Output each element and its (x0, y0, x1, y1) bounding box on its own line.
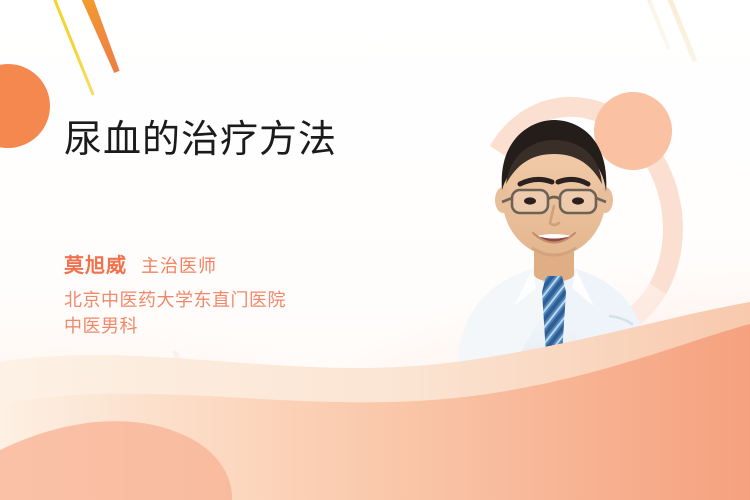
doctor-rank: 主治医师 (141, 252, 217, 278)
cover-card: 尿血的治疗方法 莫旭威 主治医师 北京中医药大学东直门医院 中医男科 (0, 0, 750, 500)
page-title: 尿血的治疗方法 (64, 118, 464, 163)
doctor-affiliation: 北京中医药大学东直门医院 中医男科 (64, 288, 286, 339)
title-block: 尿血的治疗方法 (64, 118, 464, 163)
doctor-name: 莫旭威 (64, 249, 127, 278)
doctor-byline: 莫旭威 主治医师 (64, 249, 217, 278)
doctor-department: 中医男科 (64, 314, 286, 340)
doctor-hospital: 北京中医药大学东直门医院 (64, 288, 286, 314)
